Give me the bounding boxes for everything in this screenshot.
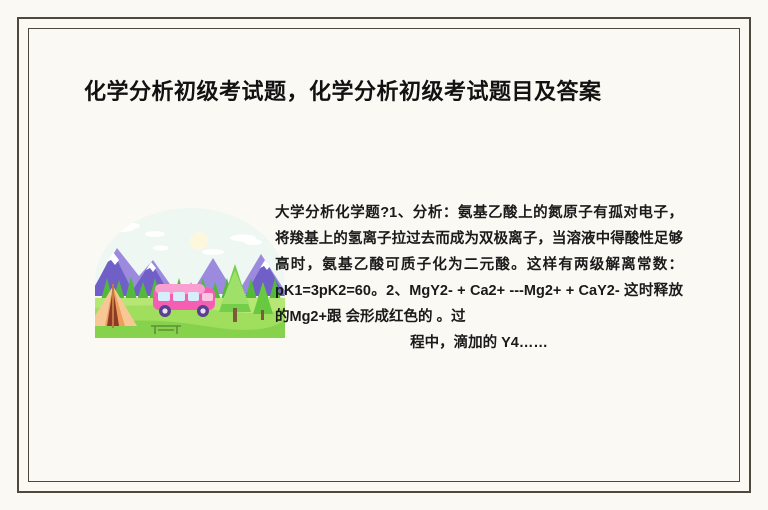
content-area: 大学分析化学题?1、分析：氨基乙酸上的氮原子有孤对电子，将羧基上的氢离子拉过去而… <box>95 200 685 400</box>
page-title: 化学分析初级考试题，化学分析初级考试题目及答案 <box>84 78 684 107</box>
paragraph-main: 大学分析化学题?1、分析：氨基乙酸上的氮原子有孤对电子，将羧基上的氢离子拉过去而… <box>275 205 683 325</box>
page-root: 化学分析初级考试题，化学分析初级考试题目及答案 <box>0 0 768 510</box>
article-paragraph: 大学分析化学题?1、分析：氨基乙酸上的氮原子有孤对电子，将羧基上的氢离子拉过去而… <box>275 200 683 356</box>
sun-icon <box>190 232 208 250</box>
camping-scene-illustration <box>95 208 285 338</box>
paragraph-tail: 程中，滴加的 Y4…… <box>275 330 683 356</box>
camping-scene-svg <box>95 208 285 338</box>
